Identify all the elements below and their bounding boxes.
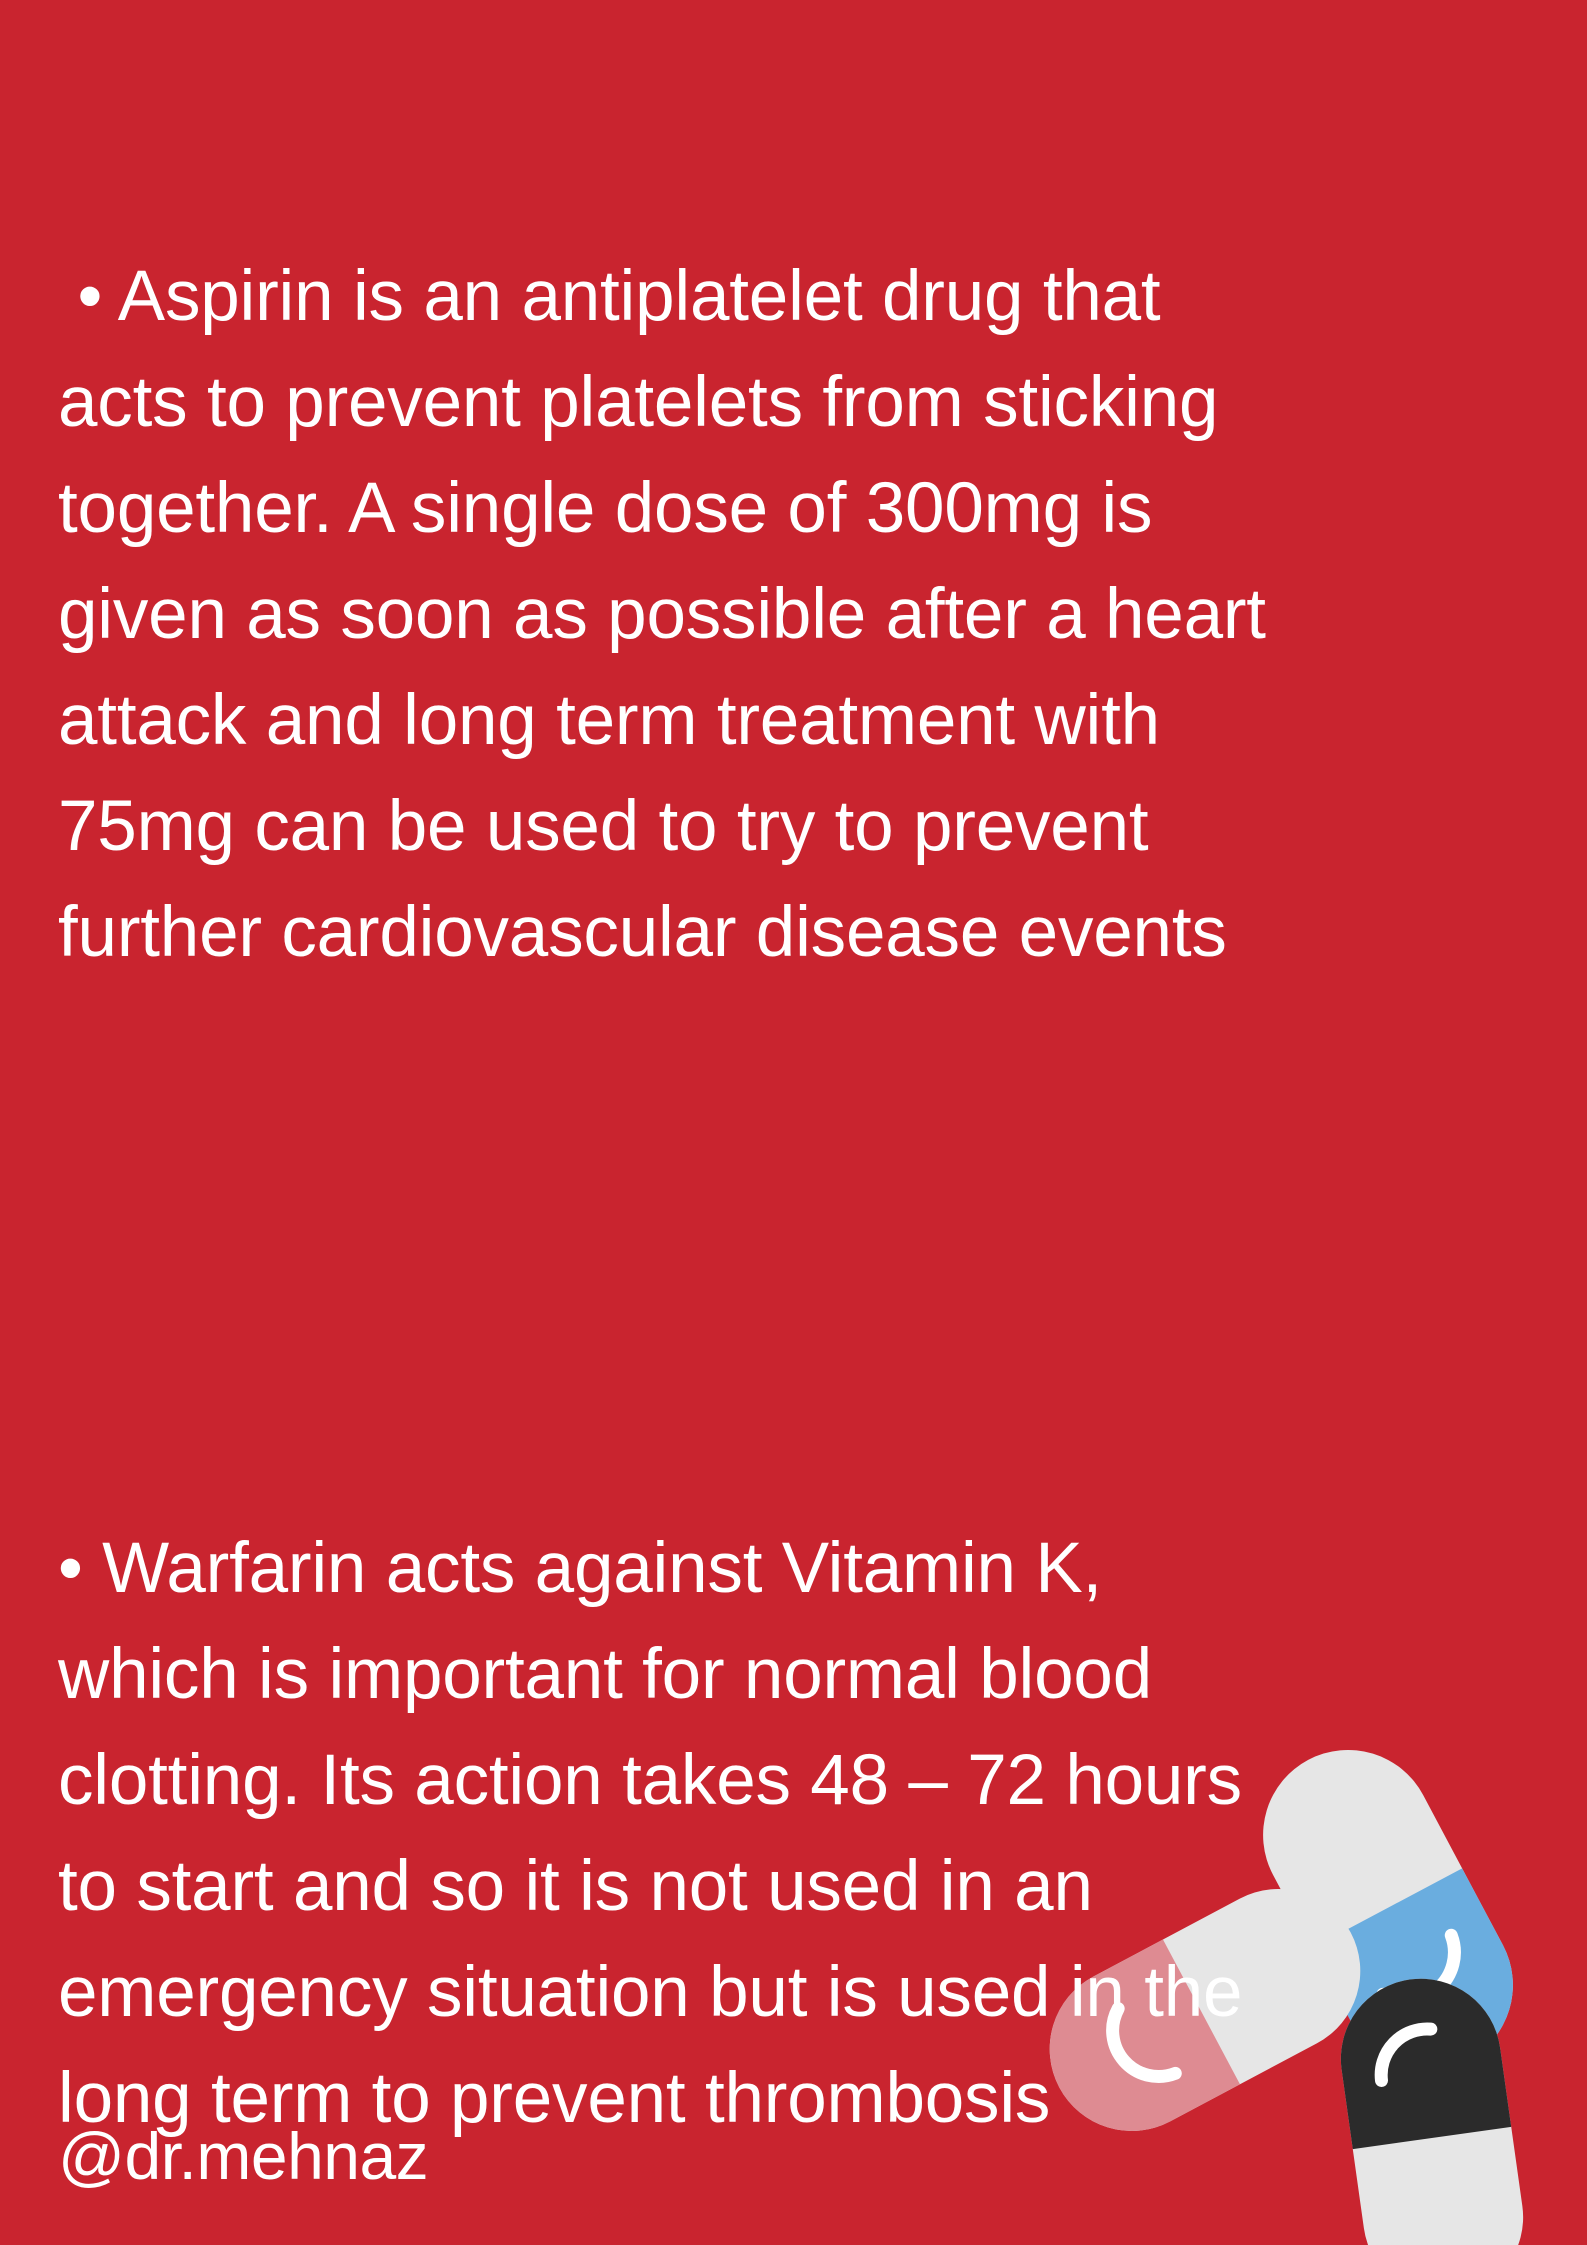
black-white-capsule: [1331, 1968, 1534, 2245]
post-body-text: • Aspirin is an antiplatelet drug that a…: [58, 32, 1288, 2245]
instagram-post-slide: • Aspirin is an antiplatelet drug that a…: [0, 0, 1587, 2245]
author-handle: @dr.mehnaz: [58, 2116, 428, 2196]
paragraph-warfarin: • Warfarin acts against Vitamin K, which…: [58, 1516, 1288, 2152]
paragraph-spacer: [58, 1198, 1288, 1304]
paragraph-aspirin: • Aspirin is an antiplatelet drug that a…: [58, 244, 1288, 986]
